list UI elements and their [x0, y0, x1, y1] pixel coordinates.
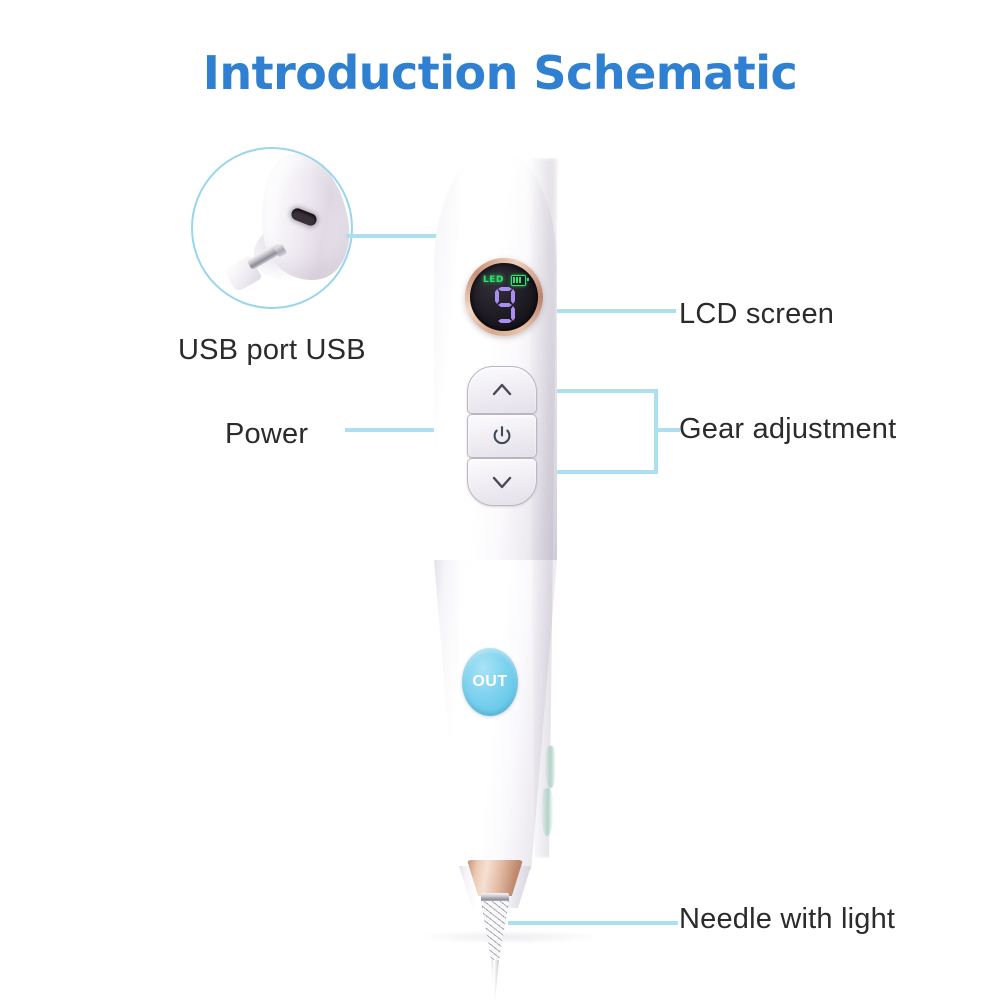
callout-label-power: Power — [225, 418, 308, 451]
power-button[interactable] — [467, 414, 537, 458]
needle-shaft — [481, 901, 509, 963]
out-button-label: OUT — [472, 673, 507, 691]
power-icon — [490, 424, 514, 448]
plasma-pen-device: LED — [410, 148, 610, 948]
segment-b — [511, 289, 515, 304]
segment-a — [498, 287, 512, 291]
segment-f — [495, 289, 499, 304]
lcd-led-label: LED — [483, 275, 504, 285]
pen-green-reflection-lower — [541, 788, 553, 836]
callout-label-usb-port: USB port USB — [178, 334, 366, 367]
callout-label-gear-adjustment: Gear adjustment — [679, 413, 896, 446]
schematic-page: Introduction Schematic USB port USB Powe… — [0, 0, 1000, 1000]
pen-green-reflection-upper — [545, 746, 555, 788]
chevron-up-icon — [489, 377, 515, 403]
leader-line-gear-stem — [654, 428, 680, 432]
chevron-down-icon — [489, 469, 515, 495]
segment-d — [498, 319, 512, 323]
gear-up-button[interactable] — [467, 366, 537, 414]
lcd-gear-digit — [494, 287, 516, 323]
gear-down-button[interactable] — [467, 458, 537, 506]
segment-g — [498, 303, 512, 307]
usb-port-magnifier — [191, 147, 353, 309]
lcd-screen[interactable]: LED — [470, 263, 538, 331]
page-title: Introduction Schematic — [0, 46, 1000, 100]
needle-tip — [491, 960, 499, 1000]
lcd-screen-bezel: LED — [465, 258, 543, 336]
callout-label-needle: Needle with light — [679, 903, 895, 936]
segment-c — [511, 306, 515, 321]
battery-icon — [511, 275, 526, 286]
out-button[interactable]: OUT — [462, 648, 518, 716]
callout-label-lcd-screen: LCD screen — [679, 298, 834, 331]
